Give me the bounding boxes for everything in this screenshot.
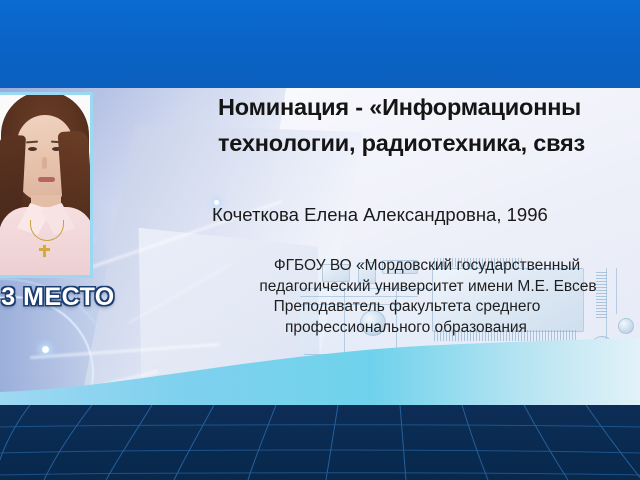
top-blue-band [0,0,640,88]
organization-line1: ФГБОУ ВО «Мордовский государственный [214,256,640,277]
footer-globe-panel [0,405,640,480]
participant-name: Кочеткова Елена Александровна, 1996 [212,204,640,226]
nomination-title: Номинация - «Информационны технологии, р… [218,89,640,161]
organization-block: ФГБОУ ВО «Мордовский государственный пед… [140,256,640,338]
presentation-slide: 3 МЕСТО Номинация - «Информационны техно… [0,0,640,480]
organization-line4: профессионального образования [172,318,640,339]
nomination-title-line2: технологии, радиотехника, связ [218,125,640,161]
organization-line3: Преподаватель факультета среднего [174,297,640,318]
slide-text-content: Номинация - «Информационны технологии, р… [0,88,640,393]
organization-line2: педагогический университет имени М.Е. Ев… [216,277,640,298]
nomination-title-line1: Номинация - «Информационны [218,94,581,120]
